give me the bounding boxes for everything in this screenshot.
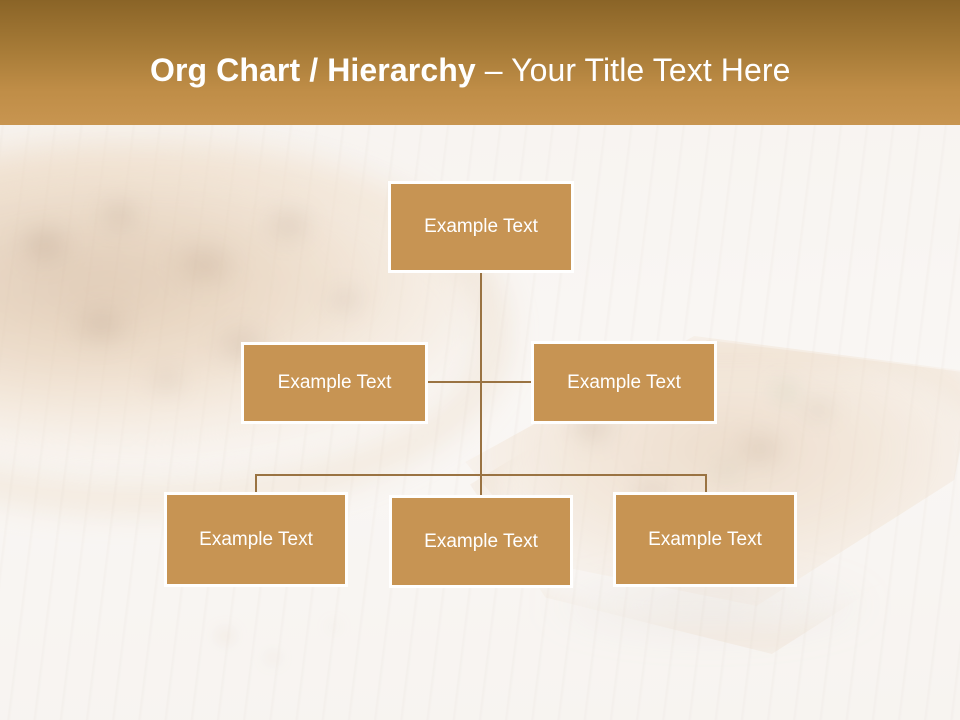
- org-node-n4[interactable]: Example Text: [164, 492, 348, 587]
- org-node-label: Example Text: [648, 528, 762, 552]
- org-node-label: Example Text: [424, 530, 538, 554]
- connector-tier2-left-branch: [428, 381, 481, 383]
- connector-trunk-vertical: [480, 272, 482, 495]
- connector-tier3-left-drop: [255, 474, 257, 493]
- org-node-label: Example Text: [199, 528, 313, 552]
- slide: Org Chart / Hierarchy – Your Title Text …: [0, 0, 960, 720]
- org-node-n6[interactable]: Example Text: [613, 492, 797, 587]
- org-node-n1[interactable]: Example Text: [388, 181, 574, 273]
- connector-tier3-right-drop: [705, 474, 707, 493]
- org-node-n2[interactable]: Example Text: [241, 342, 428, 424]
- connector-tier2-right-branch: [481, 381, 532, 383]
- org-node-label: Example Text: [567, 371, 681, 395]
- connector-tier3-bus: [255, 474, 707, 476]
- org-node-n3[interactable]: Example Text: [531, 341, 717, 424]
- org-node-label: Example Text: [278, 371, 392, 395]
- org-node-n5[interactable]: Example Text: [389, 495, 573, 588]
- org-chart: Example TextExample TextExample TextExam…: [0, 0, 960, 720]
- org-node-label: Example Text: [424, 215, 538, 239]
